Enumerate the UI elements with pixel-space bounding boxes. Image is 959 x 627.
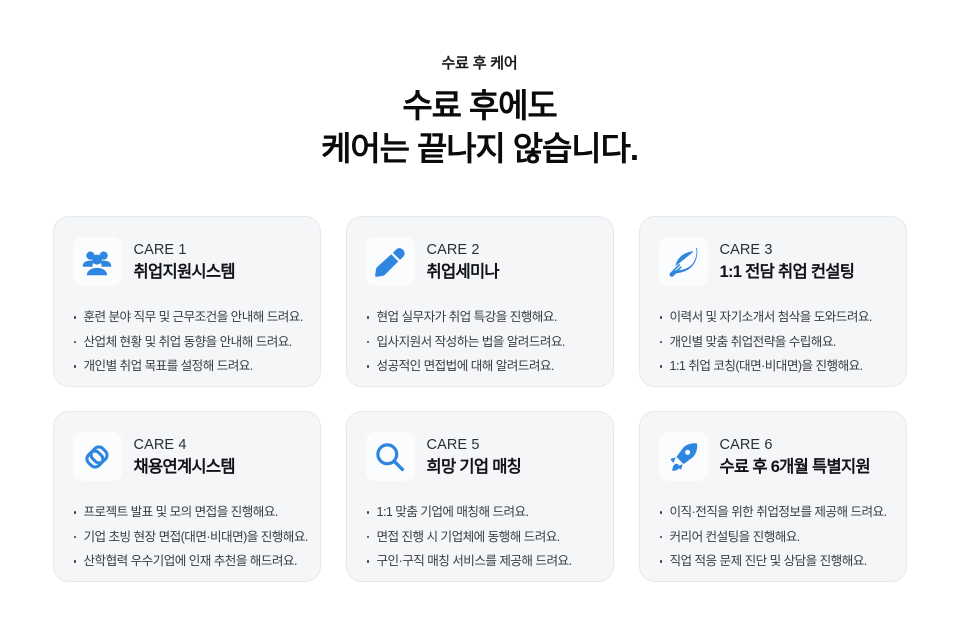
- care-card[interactable]: CARE 4채용연계시스템프로젝트 발표 및 모의 면접을 진행해요.기업 초빙…: [53, 411, 321, 582]
- care-card-bullet-list: 이력서 및 자기소개서 첨삭을 도와드려요.개인별 맞춤 취업전략을 수립해요.…: [659, 305, 887, 379]
- care-card-bullet: 성공적인 면접법에 대해 알려드려요.: [366, 354, 594, 379]
- care-card[interactable]: CARE 31:1 전담 취업 컨설팅이력서 및 자기소개서 첨삭을 도와드려요…: [639, 216, 907, 387]
- care-card-title: 희망 기업 매칭: [427, 457, 522, 478]
- care-card-title: 1:1 전담 취업 컨설팅: [720, 262, 855, 283]
- rocket-icon: [659, 432, 708, 481]
- care-card-bullet: 현업 실무자가 취업 특강을 진행해요.: [366, 305, 594, 330]
- care-card-bullet: 개인별 취업 목표를 설정해 드려요.: [73, 354, 301, 379]
- care-card-bullet: 훈련 분야 직무 및 근무조건을 안내해 드려요.: [73, 305, 301, 330]
- care-card-bullet: 1:1 취업 코칭(대면·비대면)을 진행해요.: [659, 354, 887, 379]
- care-card-bullet: 이력서 및 자기소개서 첨삭을 도와드려요.: [659, 305, 887, 330]
- care-card-heading-group: CARE 5희망 기업 매칭: [427, 436, 522, 477]
- care-card[interactable]: CARE 6수료 후 6개월 특별지원이직·전직을 위한 취업정보를 제공해 드…: [639, 411, 907, 582]
- care-card-heading-group: CARE 4채용연계시스템: [134, 436, 235, 477]
- page-title: 수료 후에도 케어는 끝나지 않습니다.: [0, 84, 959, 172]
- care-card-heading-group: CARE 2취업세미나: [427, 241, 499, 282]
- care-card-heading-group: CARE 1취업지원시스템: [134, 241, 235, 282]
- care-card-bullet: 커리어 컨설팅을 진행해요.: [659, 525, 887, 550]
- section-eyebrow: 수료 후 케어: [0, 54, 959, 74]
- care-card-bullet: 직업 적응 문제 진단 및 상담을 진행해요.: [659, 549, 887, 574]
- care-card-title: 취업세미나: [427, 262, 499, 283]
- care-card-header: CARE 1취업지원시스템: [73, 234, 301, 289]
- section-header: 수료 후 케어 수료 후에도 케어는 끝나지 않습니다.: [0, 0, 959, 171]
- care-card-label: CARE 3: [720, 241, 855, 259]
- care-card-header: CARE 31:1 전담 취업 컨설팅: [659, 234, 887, 289]
- care-card-bullet: 면접 진행 시 기업체에 동행해 드려요.: [366, 525, 594, 550]
- care-card-label: CARE 1: [134, 241, 235, 259]
- care-card-title: 취업지원시스템: [134, 262, 235, 283]
- care-card-header: CARE 4채용연계시스템: [73, 429, 301, 484]
- headline-line-1: 수료 후에도: [0, 84, 959, 128]
- care-card[interactable]: CARE 1취업지원시스템훈련 분야 직무 및 근무조건을 안내해 드려요.산업…: [53, 216, 321, 387]
- care-card-bullet: 개인별 맞춤 취업전략을 수립해요.: [659, 330, 887, 355]
- care-card-label: CARE 2: [427, 241, 499, 259]
- care-card-bullet-list: 1:1 맞춤 기업에 매칭해 드려요.면접 진행 시 기업체에 동행해 드려요.…: [366, 500, 594, 574]
- care-card-label: CARE 4: [134, 436, 235, 454]
- care-card-grid: CARE 1취업지원시스템훈련 분야 직무 및 근무조건을 안내해 드려요.산업…: [44, 171, 916, 582]
- care-card-header: CARE 6수료 후 6개월 특별지원: [659, 429, 887, 484]
- care-card-bullet: 입사지원서 작성하는 법을 알려드려요.: [366, 330, 594, 355]
- people-group-icon: [73, 237, 122, 286]
- feather-icon: [659, 237, 708, 286]
- care-card-bullet: 이직·전직을 위한 취업정보를 제공해 드려요.: [659, 500, 887, 525]
- care-card-title: 채용연계시스템: [134, 457, 235, 478]
- care-card-bullet: 프로젝트 발표 및 모의 면접을 진행해요.: [73, 500, 301, 525]
- care-card-header: CARE 2취업세미나: [366, 234, 594, 289]
- care-card-heading-group: CARE 31:1 전담 취업 컨설팅: [720, 241, 855, 282]
- pen-icon: [366, 237, 415, 286]
- care-card-bullet-list: 훈련 분야 직무 및 근무조건을 안내해 드려요.산업체 현황 및 취업 동향을…: [73, 305, 301, 379]
- care-card-bullet: 산학협력 우수기업에 인재 추천을 해드려요.: [73, 549, 301, 574]
- care-card[interactable]: CARE 5희망 기업 매칭1:1 맞춤 기업에 매칭해 드려요.면접 진행 시…: [346, 411, 614, 582]
- care-card-label: CARE 5: [427, 436, 522, 454]
- care-card[interactable]: CARE 2취업세미나현업 실무자가 취업 특강을 진행해요.입사지원서 작성하…: [346, 216, 614, 387]
- care-card-bullet-list: 현업 실무자가 취업 특강을 진행해요.입사지원서 작성하는 법을 알려드려요.…: [366, 305, 594, 379]
- headline-line-2: 케어는 끝나지 않습니다.: [0, 127, 959, 171]
- care-card-bullet-list: 프로젝트 발표 및 모의 면접을 진행해요.기업 초빙 현장 면접(대면·비대면…: [73, 500, 301, 574]
- care-card-header: CARE 5희망 기업 매칭: [366, 429, 594, 484]
- care-card-bullet-list: 이직·전직을 위한 취업정보를 제공해 드려요.커리어 컨설팅을 진행해요.직업…: [659, 500, 887, 574]
- care-card-title: 수료 후 6개월 특별지원: [720, 457, 870, 478]
- care-card-bullet: 기업 초빙 현장 면접(대면·비대면)을 진행해요.: [73, 525, 301, 550]
- care-card-heading-group: CARE 6수료 후 6개월 특별지원: [720, 436, 870, 477]
- care-card-bullet: 산업체 현황 및 취업 동향을 안내해 드려요.: [73, 330, 301, 355]
- care-section-page: 수료 후 케어 수료 후에도 케어는 끝나지 않습니다. CARE 1취업지원시…: [0, 0, 959, 627]
- chain-link-icon: [73, 432, 122, 481]
- care-card-bullet: 1:1 맞춤 기업에 매칭해 드려요.: [366, 500, 594, 525]
- magnifier-icon: [366, 432, 415, 481]
- care-card-bullet: 구인·구직 매칭 서비스를 제공해 드려요.: [366, 549, 594, 574]
- care-card-label: CARE 6: [720, 436, 870, 454]
